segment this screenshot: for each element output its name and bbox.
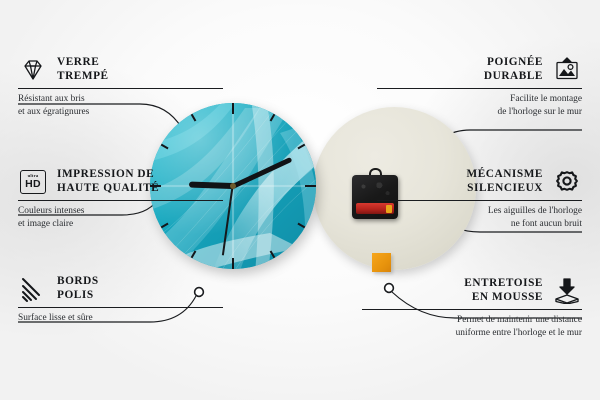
gear-icon (552, 168, 582, 196)
foam-spacer (372, 253, 391, 272)
feature-subtitle-line2: ne font aucun bruit (377, 218, 582, 231)
feature-header: MÉCANISME SILENCIEUX (377, 168, 582, 196)
feature-subtitle-line2: et image claire (18, 218, 223, 231)
feature-entretoise-en-mousse: ENTRETOISE EN MOUSSE Permet de maintenir… (362, 277, 582, 339)
feature-title: ENTRETOISE EN MOUSSE (464, 277, 543, 305)
diamond-icon (18, 56, 48, 84)
feature-impression-haute-qualite: ultra HD IMPRESSION DE HAUTE QUALITÉ Cou… (18, 168, 223, 230)
divider (377, 200, 582, 201)
picture-frame-hanger-icon (552, 56, 582, 84)
divider (377, 88, 582, 89)
feature-header: VERRE TREMPÉ (18, 56, 223, 84)
feature-subtitle-line2: et aux égratignures (18, 106, 223, 119)
feature-title: POIGNÉE DURABLE (484, 56, 543, 84)
feature-subtitle-line1: Les aiguilles de l'horloge (377, 205, 582, 218)
clock-tick (233, 185, 316, 187)
foam-spacer-icon (552, 277, 582, 305)
feature-subtitle-line1: Couleurs intenses (18, 205, 223, 218)
clock-center-cap (230, 183, 236, 189)
feature-subtitle-line1: Surface lisse et sûre (18, 312, 223, 325)
polished-edges-icon (18, 275, 48, 303)
feature-verre-trempe: VERRE TREMPÉ Résistant aux bris et aux é… (18, 56, 223, 118)
feature-title: BORDS POLIS (57, 275, 99, 303)
divider (362, 309, 582, 310)
feature-poignee-durable: POIGNÉE DURABLE Facilite le montage de l… (377, 56, 582, 118)
feature-mecanisme-silencieux: MÉCANISME SILENCIEUX Les aiguilles de l'… (377, 168, 582, 230)
feature-subtitle-line1: Facilite le montage (377, 93, 582, 106)
feature-title: VERRE TREMPÉ (57, 56, 109, 84)
feature-subtitle-line2: uniforme entre l'horloge et le mur (362, 327, 582, 340)
divider (18, 88, 223, 89)
divider (18, 200, 223, 201)
clock-tick (232, 186, 234, 269)
feature-subtitle-line1: Résistant aux bris (18, 93, 223, 106)
clock-tick (232, 103, 234, 186)
feature-header: POIGNÉE DURABLE (377, 56, 582, 84)
feature-header: BORDS POLIS (18, 275, 223, 303)
feature-header: ultra HD IMPRESSION DE HAUTE QUALITÉ (18, 168, 223, 196)
feature-subtitle-line1: Permet de maintenir une distance (362, 314, 582, 327)
feature-bords-polis: BORDS POLIS Surface lisse et sûre (18, 275, 223, 325)
divider (18, 307, 223, 308)
feature-header: ENTRETOISE EN MOUSSE (362, 277, 582, 305)
ultra-hd-icon: ultra HD (18, 168, 48, 196)
infographic-canvas: VERRE TREMPÉ Résistant aux bris et aux é… (0, 0, 600, 400)
feature-title: MÉCANISME SILENCIEUX (467, 168, 544, 196)
feature-title: IMPRESSION DE HAUTE QUALITÉ (57, 168, 159, 196)
ultra-hd-large-label: HD (25, 179, 41, 190)
feature-subtitle-line2: de l'horloge sur le mur (377, 106, 582, 119)
